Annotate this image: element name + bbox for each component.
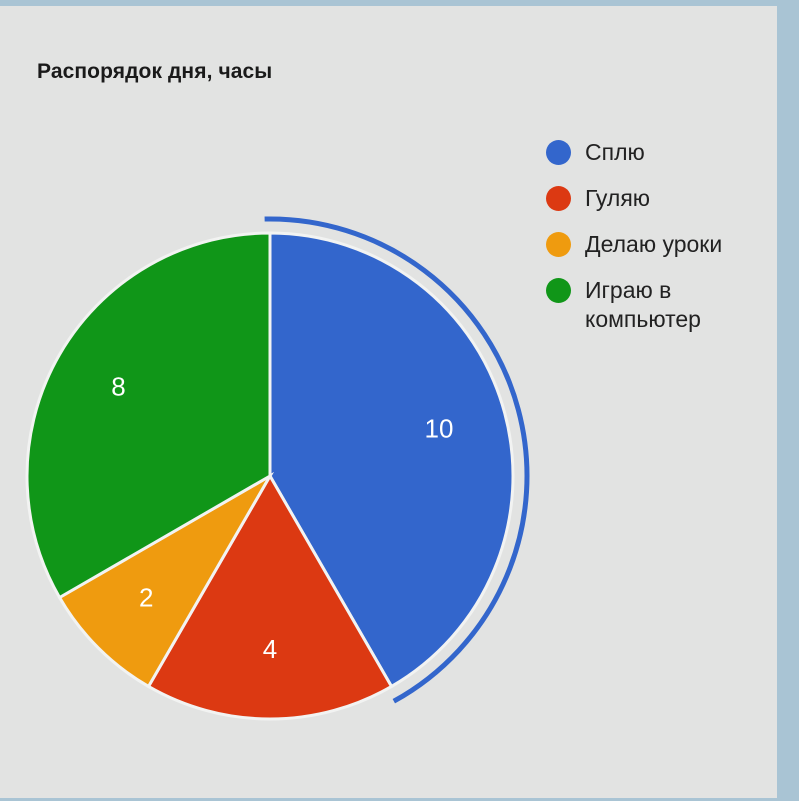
chart-surface: Распорядок дня, часы 10428 СплюГуляюДела… [0,6,777,798]
legend-color-swatch-icon [546,232,571,257]
pie-slice-value-label: 4 [263,634,277,664]
legend-item-label: Делаю уроки [585,230,722,259]
pie-slice-value-label: 2 [139,583,153,613]
legend-color-swatch-icon [546,278,571,303]
chart-legend: СплюГуляюДелаю урокиИграю в компьютер [546,138,786,351]
chart-page: Распорядок дня, часы 10428 СплюГуляюДела… [0,0,799,801]
pie-chart: 10428 [0,6,777,798]
pie-svg: 10428 [0,6,777,798]
pie-slice-value-label: 8 [111,371,125,401]
pie-slice-value-label: 10 [425,414,454,444]
legend-item[interactable]: Сплю [546,138,786,167]
legend-color-swatch-icon [546,140,571,165]
legend-item-label: Играю в компьютер [585,276,785,334]
legend-item-label: Гуляю [585,184,650,213]
frame-strip-right [777,0,799,801]
legend-item[interactable]: Гуляю [546,184,786,213]
legend-item[interactable]: Играю в компьютер [546,276,786,334]
legend-color-swatch-icon [546,186,571,211]
legend-item-label: Сплю [585,138,645,167]
legend-item[interactable]: Делаю уроки [546,230,786,259]
